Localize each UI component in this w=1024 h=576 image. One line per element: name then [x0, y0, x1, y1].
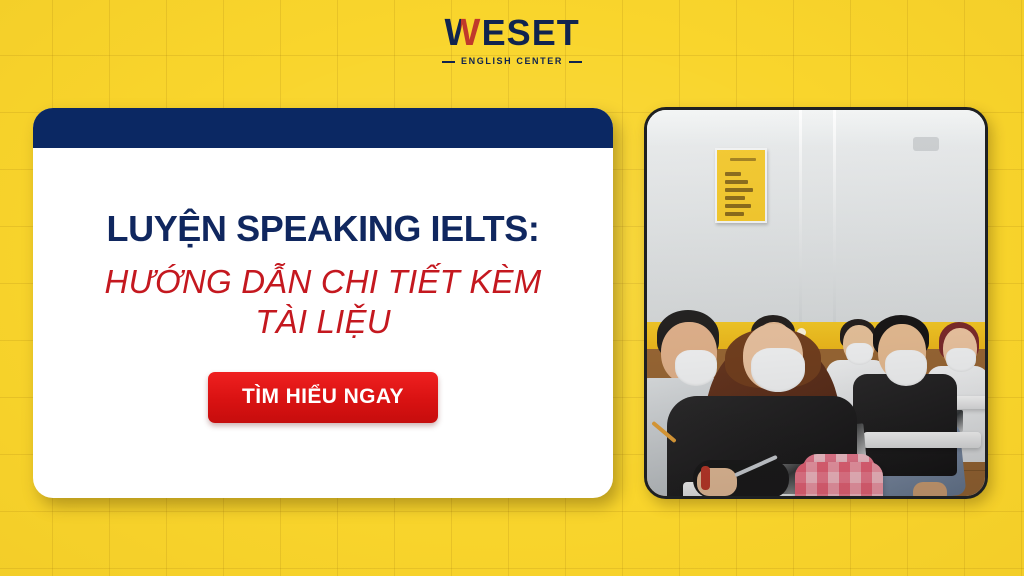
dash-icon	[442, 61, 455, 63]
card-navy-header-bar	[33, 108, 613, 148]
photo-color-grade	[647, 110, 985, 496]
dash-icon	[569, 61, 582, 63]
logo-w-letter: W	[444, 14, 482, 52]
logo-tagline: ENGLISH CENTER	[442, 57, 582, 66]
page-subtitle: HƯỚNG DẪN CHI TIẾT KÈM TÀI LIỆU	[105, 262, 542, 343]
weset-logo[interactable]: WESET ENGLISH CENTER	[0, 14, 1024, 66]
page-subtitle-line-2: TÀI LIỆU	[105, 302, 542, 342]
promo-banner: WESET ENGLISH CENTER LUYỆN SPEAKING IELT…	[0, 0, 1024, 576]
page-title: LUYỆN SPEAKING IELTS:	[107, 209, 540, 249]
classroom-photo	[644, 107, 988, 499]
logo-rest-letters: ESET	[482, 15, 580, 51]
content-card: LUYỆN SPEAKING IELTS: HƯỚNG DẪN CHI TIẾT…	[33, 108, 613, 498]
photo-scene	[647, 110, 985, 496]
cta-container: TÌM HIỂU NGAY	[208, 372, 438, 423]
logo-wordmark: WESET	[444, 14, 579, 52]
logo-tagline-text: ENGLISH CENTER	[461, 57, 563, 66]
page-subtitle-line-1: HƯỚNG DẪN CHI TIẾT KÈM	[105, 262, 542, 302]
card-body: LUYỆN SPEAKING IELTS: HƯỚNG DẪN CHI TIẾT…	[33, 148, 613, 498]
learn-more-button[interactable]: TÌM HIỂU NGAY	[208, 372, 438, 423]
